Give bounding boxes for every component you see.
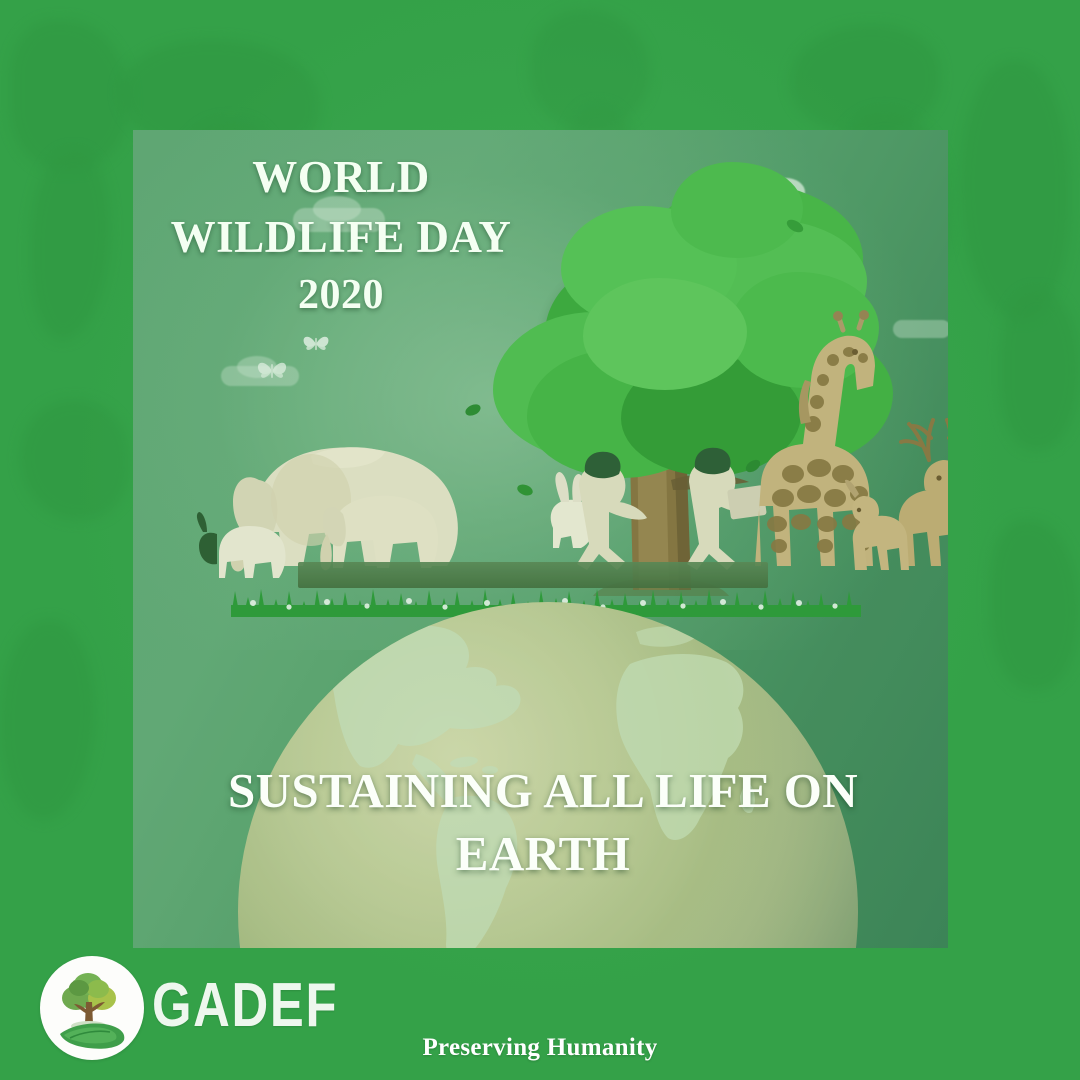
- headline-line-1: WORLD: [161, 148, 521, 208]
- tagline-line-2: EARTH: [193, 823, 893, 886]
- poster-headline: WORLD WILDLIFE DAY 2020: [161, 148, 521, 324]
- tagline-line-1: SUSTAINING ALL LIFE ON: [193, 760, 893, 823]
- footer-bar: GADEF Preserving Humanity: [0, 948, 1080, 1080]
- poster-artwork-panel: WORLD WILDLIFE DAY 2020 SUSTAINING ALL L…: [133, 130, 948, 948]
- poster-tagline: SUSTAINING ALL LIFE ON EARTH: [193, 760, 893, 885]
- headline-line-2: WILDLIFE DAY: [161, 208, 521, 268]
- headline-year: 2020: [161, 268, 521, 324]
- brand-slogan: Preserving Humanity: [0, 1034, 1080, 1062]
- brand-wordmark: GADEF: [152, 970, 338, 1041]
